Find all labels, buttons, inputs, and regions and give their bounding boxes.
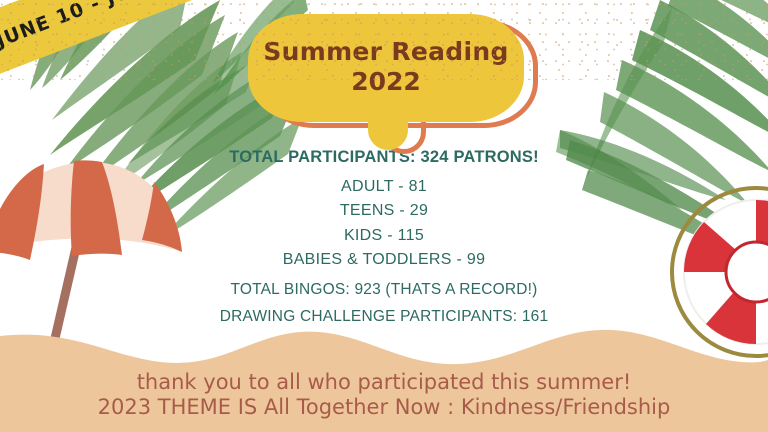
footer-block: thank you to all who participated this s… — [0, 370, 768, 432]
footer-next-theme: 2023 THEME IS All Together Now : Kindnes… — [0, 395, 768, 420]
stat-teens: TEENS - 29 — [0, 199, 768, 223]
stat-babies-toddlers: BABIES & TODDLERS - 99 — [0, 248, 768, 272]
statistics-block: TOTAL PARTICIPANTS: 324 PATRONS! ADULT -… — [0, 148, 768, 326]
stat-kids: KIDS - 115 — [0, 224, 768, 248]
stat-total-bingos: TOTAL BINGOS: 923 (THATS A RECORD!) — [0, 281, 768, 299]
summer-reading-poster: JUNE 10 - JULY 21, 2022 Summer Reading 2… — [0, 0, 768, 432]
footer-thanks: thank you to all who participated this s… — [0, 370, 768, 395]
stat-adult: ADULT - 81 — [0, 175, 768, 199]
sand-texture — [0, 0, 768, 80]
